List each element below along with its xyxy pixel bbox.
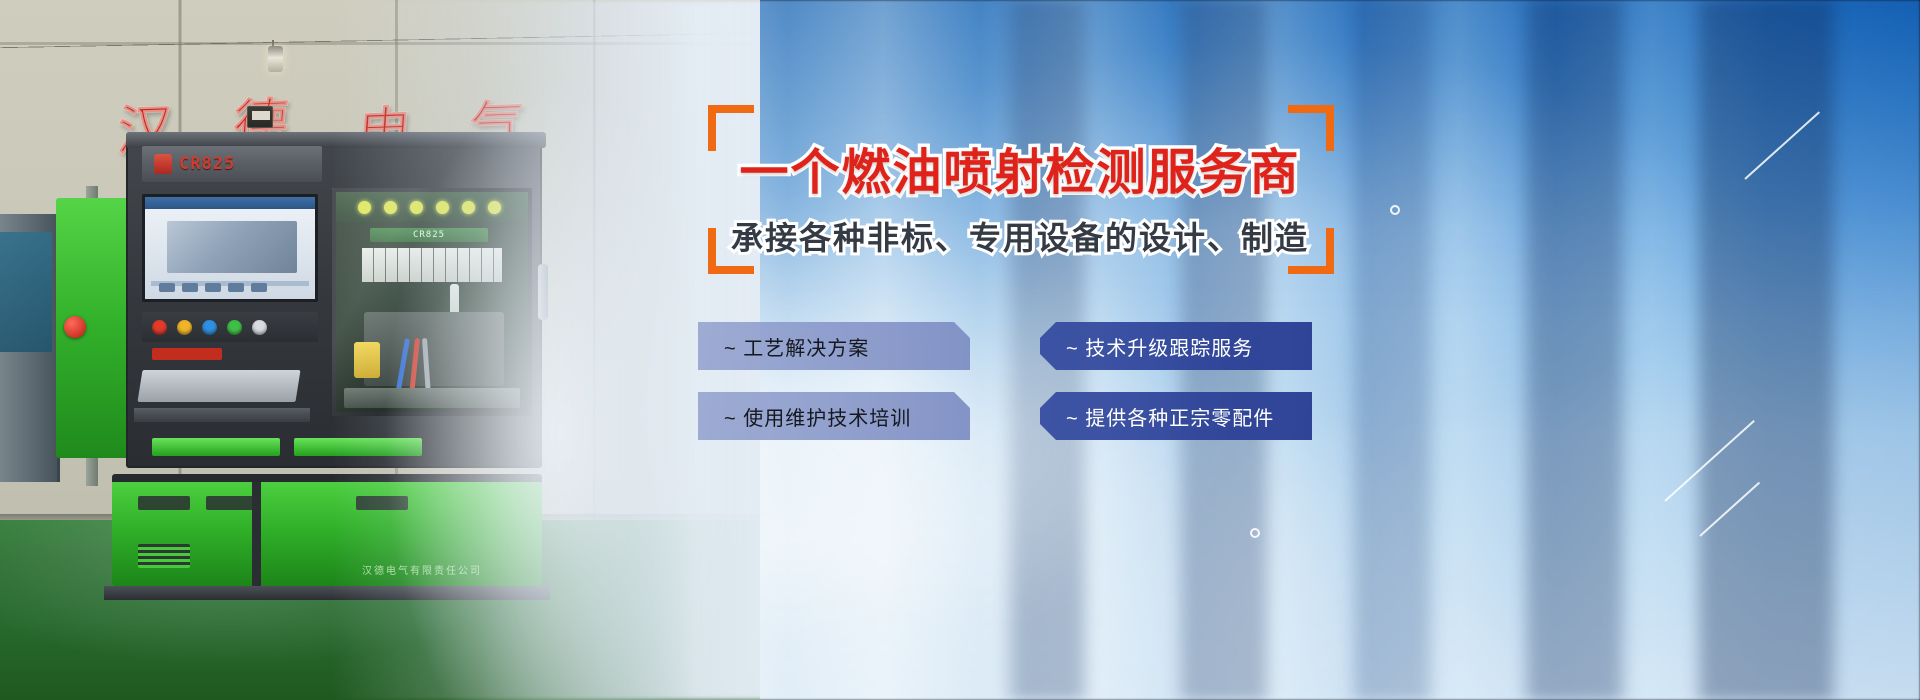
chamber-base: [344, 388, 520, 408]
machine-green-accent-right: [294, 438, 422, 456]
banner-headline: 一个燃油喷射检测服务商: [690, 133, 1350, 204]
banner-subheadline: 承接各种非标、专用设备的设计、制造: [690, 213, 1350, 259]
machine-base-caption: 汉德电气有限责任公司: [332, 562, 512, 577]
machine-test-chamber: CR825: [332, 188, 532, 416]
small-circle-icon: [1390, 205, 1400, 215]
small-circle-icon: [1250, 528, 1260, 538]
hero-banner: 汉 德 电 气 CR825: [0, 0, 1920, 700]
wall-switch-icon: [247, 106, 273, 128]
machine-plinth: [104, 586, 550, 600]
chamber-label: CR825: [370, 228, 488, 242]
yellow-module: [354, 342, 380, 378]
brand-mark-icon: [154, 154, 172, 174]
diagonal-line-icon: [1744, 111, 1820, 179]
machine-model-text: CR825: [179, 154, 235, 174]
chamber-lamp-bar: [336, 192, 528, 222]
indicator-white: [252, 320, 267, 335]
machine-keyboard: [137, 370, 300, 402]
machine-control-buttons: [142, 312, 318, 342]
indicator-yellow: [177, 320, 192, 335]
diagonal-line-icon: [1699, 482, 1760, 537]
indicator-green: [227, 320, 242, 335]
background-equipment-rack: [0, 214, 60, 482]
ceiling-lamp-icon: [268, 46, 283, 72]
injector-rig: [364, 312, 504, 386]
machine-red-strip: [152, 348, 222, 360]
machine-hmi-screen: [142, 194, 318, 302]
machine-tray: [134, 408, 310, 422]
feature-button-process-solution[interactable]: ~ 工艺解决方案: [698, 322, 970, 370]
feature-button-grid: ~ 工艺解决方案 ~ 技术升级跟踪服务 ~ 使用维护技术培训 ~ 提供各种正宗零…: [698, 322, 1318, 440]
test-bench-machine: CR825 CR825: [56, 140, 542, 518]
machine-green-accent-left: [152, 438, 280, 456]
indicator-blue: [202, 320, 217, 335]
feature-button-training[interactable]: ~ 使用维护技术培训: [698, 392, 970, 440]
chamber-door-handle: [538, 264, 548, 320]
cabinet-handle: [206, 496, 258, 510]
hmi-button-row: [159, 283, 267, 292]
measuring-scale: [362, 248, 502, 282]
feature-button-genuine-parts[interactable]: ~ 提供各种正宗零配件: [1040, 392, 1312, 440]
banner-content: 一个燃油喷射检测服务商 承接各种非标、专用设备的设计、制造 ~ 工艺解决方案 ~…: [690, 0, 1920, 700]
cabinet-handle: [356, 496, 408, 510]
workshop-photo: 汉 德 电 气 CR825: [0, 0, 760, 700]
feature-button-tech-upgrade[interactable]: ~ 技术升级跟踪服务: [1040, 322, 1312, 370]
machine-model-badge: CR825: [142, 146, 322, 182]
hmi-titlebar: [145, 197, 315, 209]
indicator-red: [152, 320, 167, 335]
cabinet-handle: [138, 496, 190, 510]
cabinet-vent-grille: [138, 544, 190, 568]
diagonal-line-icon: [1664, 420, 1755, 502]
hmi-diagram: [167, 221, 297, 273]
